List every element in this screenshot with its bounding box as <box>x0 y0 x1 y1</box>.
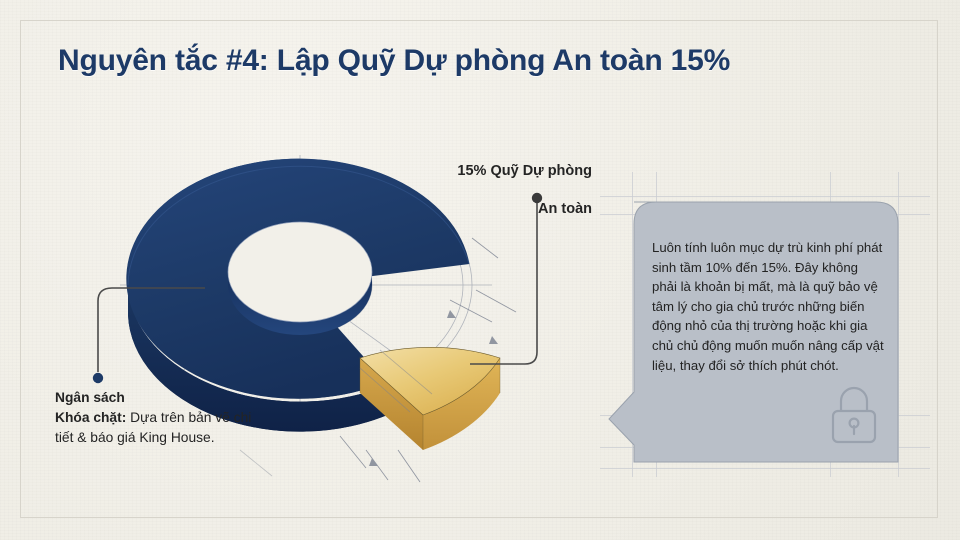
leader-dot-navy <box>93 373 103 383</box>
callout-body-text: Luôn tính luôn mục dự trù kinh phí phát … <box>652 238 884 375</box>
annotation-locked-budget-bold2: Khóa chặt: <box>55 410 126 425</box>
gold-slice-group <box>360 347 500 450</box>
page-title: Nguyên tắc #4: Lập Quỹ Dự phòng An toàn … <box>58 44 918 78</box>
lock-icon-svg <box>826 386 882 446</box>
slide-canvas: Nguyên tắc #4: Lập Quỹ Dự phòng An toàn … <box>0 0 960 540</box>
annotation-reserve-fund-line2: An toàn <box>330 200 592 219</box>
annotation-reserve-fund-line1: 15% Quỹ Dự phòng <box>330 162 592 181</box>
annotation-reserve-fund: 15% Quỹ Dự phòng An toàn <box>330 143 592 238</box>
callout-bubble: Luôn tính luôn mục dự trù kinh phí phát … <box>608 186 900 464</box>
annotation-locked-budget-bold1: Ngân sách <box>55 390 125 405</box>
lock-icon <box>826 386 882 446</box>
annotation-locked-budget: Ngân sách Khóa chặt: Dựa trên bản vẽ chi… <box>55 388 270 448</box>
